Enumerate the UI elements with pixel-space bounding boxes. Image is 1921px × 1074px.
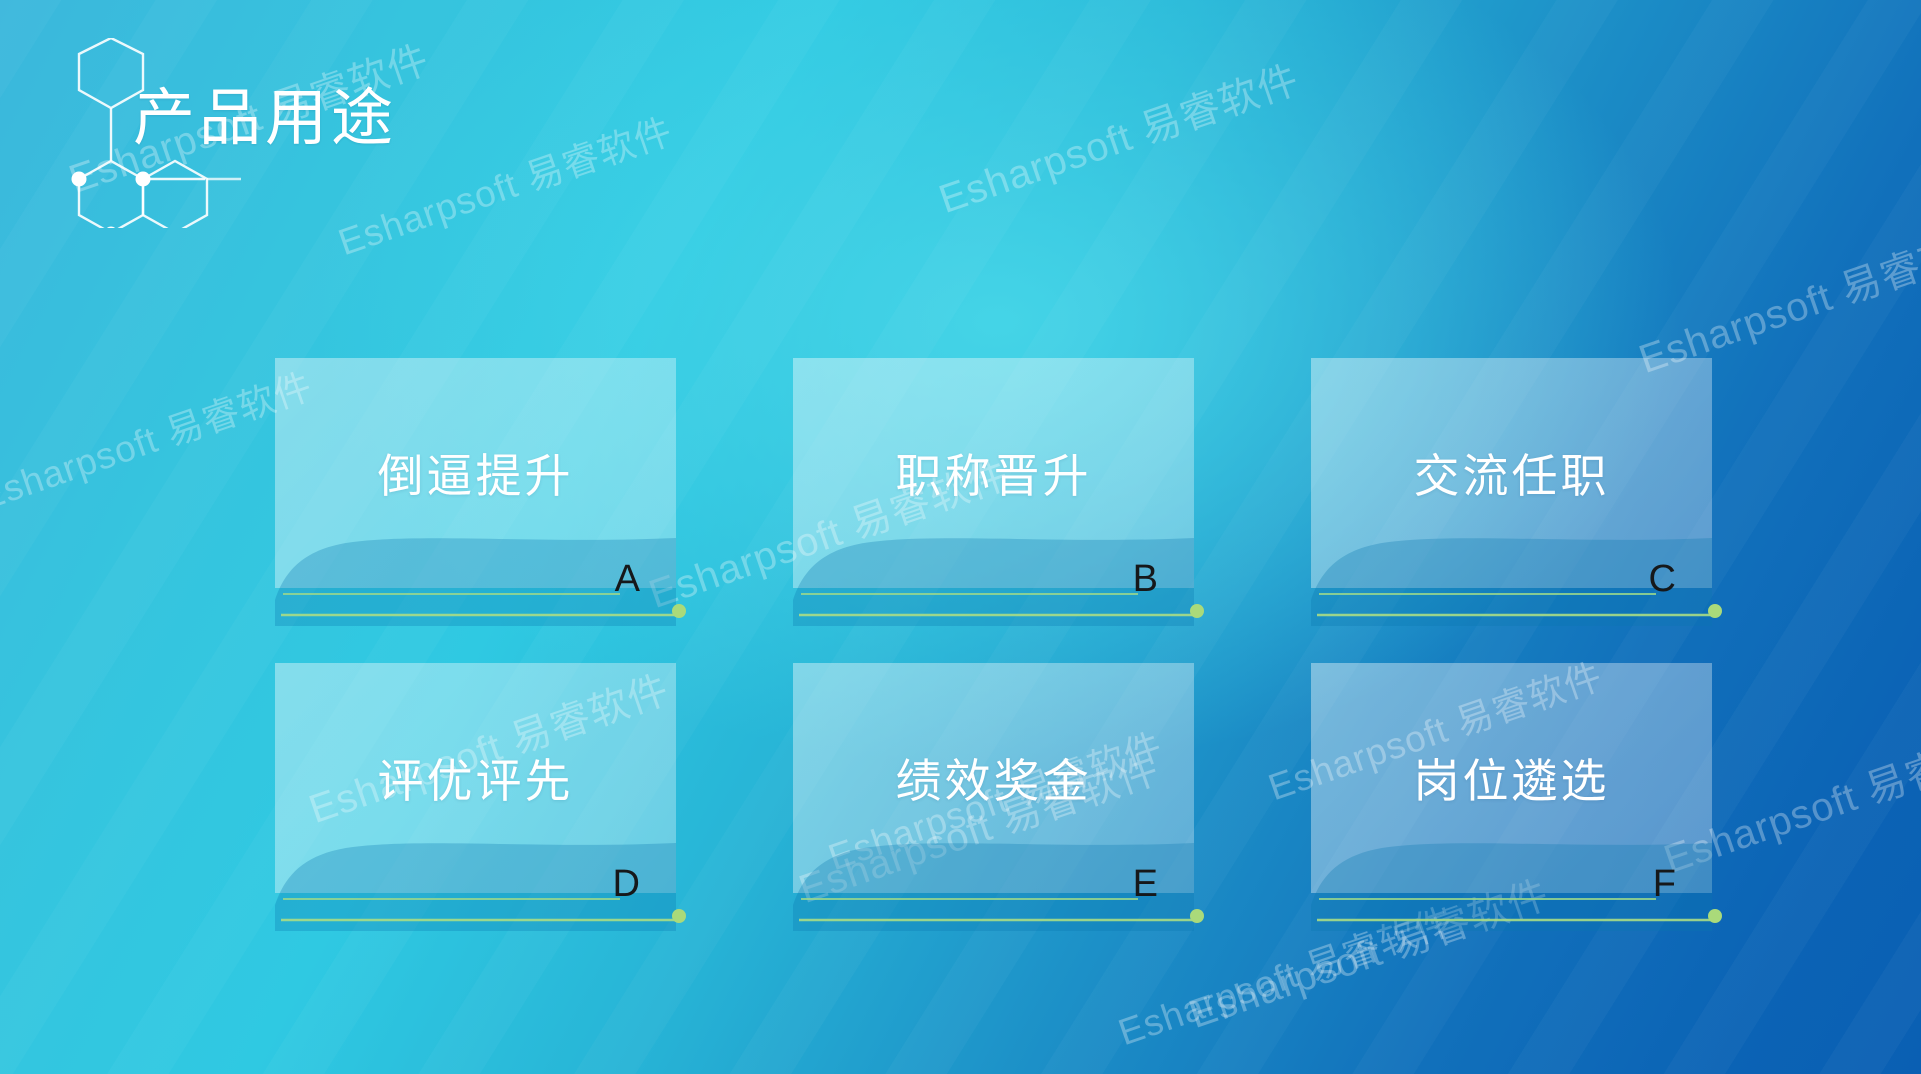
watermark-text: Esharpsoft 易睿软件 bbox=[930, 47, 1306, 225]
card-title: 岗位遴选 bbox=[1311, 663, 1712, 893]
slide-header: 产品用途 bbox=[0, 0, 760, 300]
card-c[interactable]: 交流任职 C bbox=[1311, 358, 1712, 626]
card-title: 评优评先 bbox=[275, 663, 676, 893]
card-f[interactable]: 岗位遴选 F bbox=[1311, 663, 1712, 931]
card-title: 倒逼提升 bbox=[275, 358, 676, 588]
card-letter-label: F bbox=[1653, 865, 1676, 903]
card-end-dot bbox=[672, 604, 686, 618]
card-a[interactable]: 倒逼提升 A bbox=[275, 358, 676, 626]
slide-canvas: Esharpsoft 易睿软件Esharpsoft 易睿软件Esharpsoft… bbox=[0, 0, 1921, 1074]
card-letter-label: B bbox=[1133, 560, 1158, 598]
card-letter-label: D bbox=[613, 865, 640, 903]
card-end-dot bbox=[1190, 604, 1204, 618]
card-end-dot bbox=[672, 909, 686, 923]
card-letter-label: E bbox=[1133, 865, 1158, 903]
card-title: 职称晋升 bbox=[793, 358, 1194, 588]
card-letter-label: A bbox=[615, 560, 640, 598]
card-grid: 倒逼提升 A 职称晋升 B bbox=[275, 358, 1712, 931]
page-title: 产品用途 bbox=[133, 88, 397, 150]
card-end-dot bbox=[1190, 909, 1204, 923]
card-end-dot bbox=[1708, 604, 1722, 618]
card-e[interactable]: 绩效奖金 E bbox=[793, 663, 1194, 931]
card-letter-label: C bbox=[1649, 560, 1676, 598]
card-title: 绩效奖金 bbox=[793, 663, 1194, 893]
card-title: 交流任职 bbox=[1311, 358, 1712, 588]
card-d[interactable]: 评优评先 D bbox=[275, 663, 676, 931]
card-end-dot bbox=[1708, 909, 1722, 923]
card-b[interactable]: 职称晋升 B bbox=[793, 358, 1194, 626]
watermark-text: Esharpsoft 易睿软件 bbox=[0, 356, 319, 521]
